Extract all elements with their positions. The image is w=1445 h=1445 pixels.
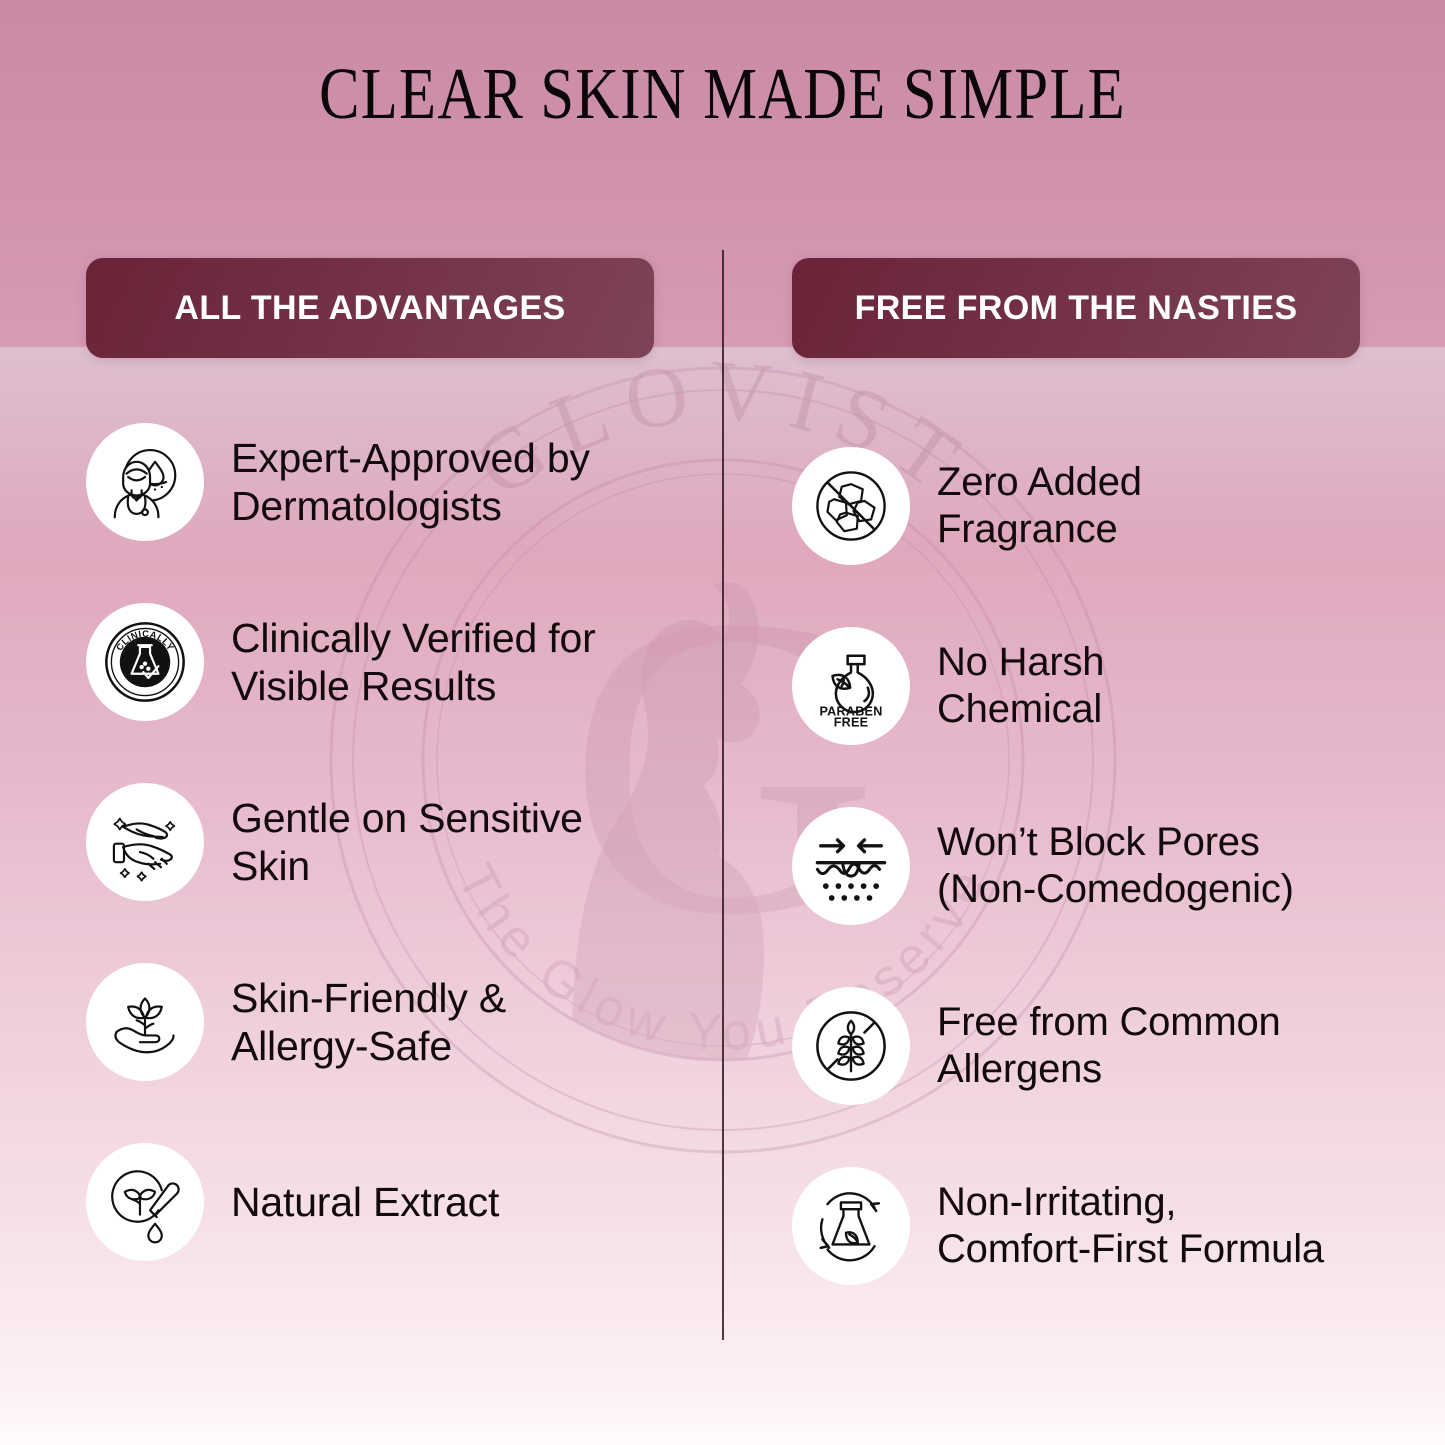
svg-text:FREE: FREE (834, 715, 869, 728)
list-item-label: No HarshChemical (937, 639, 1104, 733)
gentle-formula-flask-icon (792, 1167, 910, 1285)
hand-holding-plant-icon (86, 963, 204, 1081)
nasties-column: FREE FROM THE NASTIES (792, 258, 1360, 1316)
advantages-header-pill: ALL THE ADVANTAGES (86, 258, 654, 358)
dermatologist-icon (86, 423, 204, 541)
list-item: Natural Extract (86, 1112, 654, 1292)
non-comedogenic-pores-icon (792, 807, 910, 925)
advantages-column: ALL THE ADVANTAGES (86, 258, 654, 1292)
list-item-label: Zero AddedFragrance (937, 459, 1142, 553)
list-item-label: Natural Extract (231, 1178, 499, 1226)
list-item-label: Free from CommonAllergens (937, 999, 1281, 1093)
list-item: PARABEN FREE No HarshChemical (792, 596, 1360, 776)
list-item-label: Won’t Block Pores(Non-Comedogenic) (937, 819, 1294, 913)
list-item: Gentle on SensitiveSkin (86, 752, 654, 932)
list-item: Skin-Friendly &Allergy-Safe (86, 932, 654, 1112)
list-item: Non-Irritating,Comfort-First Formula (792, 1136, 1360, 1316)
infographic-root: G GLOVIST The Glow You Deserve CLEAR SKI… (0, 0, 1445, 1445)
list-item-label: Gentle on SensitiveSkin (231, 794, 583, 891)
list-item: Expert-Approved byDermatologists (86, 392, 654, 572)
column-divider (722, 250, 724, 1340)
advantages-header-label: ALL THE ADVANTAGES (174, 289, 565, 328)
leaf-dropper-icon (86, 1143, 204, 1261)
list-item: Free from CommonAllergens (792, 956, 1360, 1136)
gentle-hands-icon (86, 783, 204, 901)
list-item: CLINICALLY TESTED (86, 572, 654, 752)
list-item-label: Non-Irritating,Comfort-First Formula (937, 1179, 1324, 1273)
non-comedogenic-pores-icon-row: Won’t Block Pores(Non-Comedogenic) (792, 776, 1360, 956)
list-item-label: Clinically Verified forVisible Results (231, 614, 596, 711)
paraben-free-flask-icon: PARABEN FREE (792, 627, 910, 745)
list-item-label: Expert-Approved byDermatologists (231, 434, 590, 531)
nasties-header-pill: FREE FROM THE NASTIES (792, 258, 1360, 358)
no-wheat-allergen-icon (792, 987, 910, 1105)
no-fragrance-crystals-icon (792, 447, 910, 565)
clinically-tested-badge-icon: CLINICALLY TESTED (86, 603, 204, 721)
list-item: Zero AddedFragrance (792, 416, 1360, 596)
advantages-list: Expert-Approved byDermatologists CLINICA… (86, 358, 654, 1292)
nasties-header-label: FREE FROM THE NASTIES (855, 289, 1298, 328)
list-item-label: Skin-Friendly &Allergy-Safe (231, 974, 506, 1071)
page-title: CLEAR SKIN MADE SIMPLE (123, 52, 1322, 136)
nasties-list: Zero AddedFragrance PA (792, 358, 1360, 1316)
